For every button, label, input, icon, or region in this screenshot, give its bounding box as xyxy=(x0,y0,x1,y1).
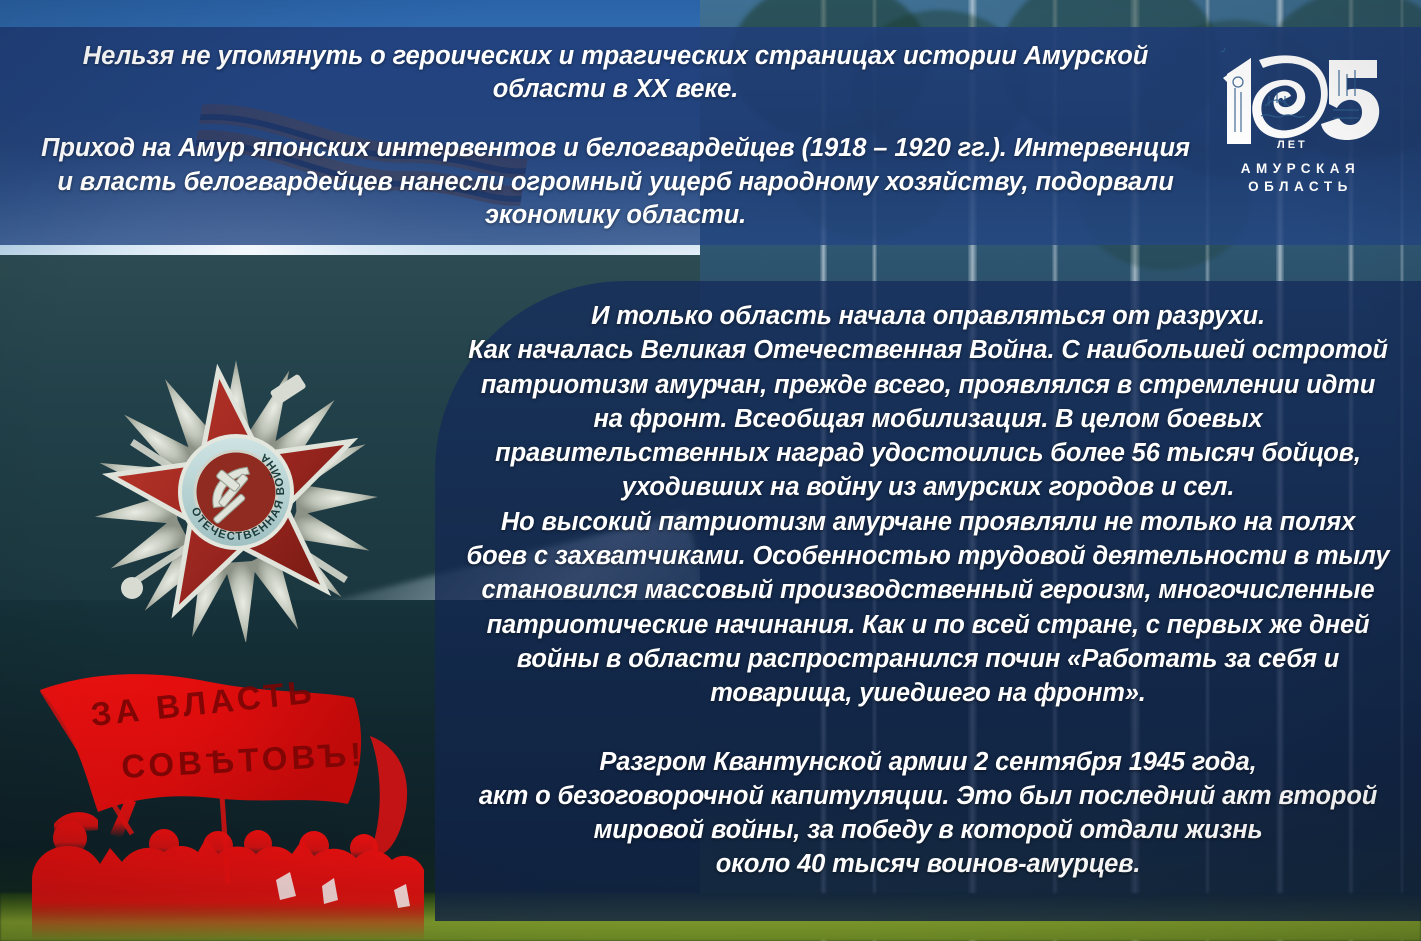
main-block-1: И только область начала оправляться от р… xyxy=(457,299,1399,333)
main-b2-line-3: на фронт. Всеобщая мобилизация. В целом … xyxy=(457,402,1399,436)
main-b2-line-1: Как началась Великая Отечественная Война… xyxy=(457,333,1399,367)
main-block-2: Как началась Великая Отечественная Война… xyxy=(457,333,1399,710)
logo-region-name: АМУРСКАЯ ОБЛАСТЬ xyxy=(1241,160,1361,196)
main-b2-line-10: войны в области распространился почин «Р… xyxy=(457,642,1399,676)
logo-region-line-1: АМУРСКАЯ xyxy=(1241,160,1361,178)
main-b2-line-6: Но высокий патриотизм амурчане проявляли… xyxy=(457,505,1399,539)
main-b2-line-4: правительственных наград удостоились бол… xyxy=(457,436,1399,470)
main-b3-line-2: акт о безоговорочной капитуляции. Это бы… xyxy=(457,779,1399,813)
main-text-panel: И только область начала оправляться от р… xyxy=(435,281,1421,921)
logo-region-line-2: ОБЛАСТЬ xyxy=(1241,178,1361,196)
top-paragraph-2: Приход на Амур японских интервентов и бе… xyxy=(40,132,1191,231)
top-paragraph-1: Нельзя не упомянуть о героических и траг… xyxy=(40,40,1191,106)
red-flag-revolution-scene: ЗА ВЛАСТЬ СОВѢТОВЪ! xyxy=(14,648,444,941)
main-b2-line-9: патриотические начинания. Как и по всей … xyxy=(457,608,1399,642)
amur-region-165-logo[interactable]: ЛЕТ АМУРСКАЯ ОБЛАСТЬ xyxy=(1208,48,1393,196)
top-p1-line-1: Нельзя не упомянуть о героических и траг… xyxy=(83,42,896,70)
main-b2-line-5: уходивших на войну из амурских городов и… xyxy=(457,470,1399,504)
main-b1-line-1: И только область начала оправляться от р… xyxy=(457,299,1399,333)
logo-years-word: ЛЕТ xyxy=(1277,139,1308,151)
165-years-icon: ЛЕТ xyxy=(1221,48,1381,154)
main-b3-line-1: Разгром Квантунской армии 2 сентября 194… xyxy=(457,745,1399,779)
top-p2-line-1: Приход на Амур японских интервентов и бе… xyxy=(41,134,1007,162)
slide-root: ОТЕЧЕСТВЕННАЯ ВОЙНА xyxy=(0,0,1421,941)
main-b2-line-2: патриотизм амурчан, прежде всего, проявл… xyxy=(457,368,1399,402)
main-block-3: Разгром Квантунской армии 2 сентября 194… xyxy=(457,745,1399,882)
main-b2-line-8: становился массовый производственный гер… xyxy=(457,573,1399,607)
main-b3-line-4: около 40 тысяч воинов-амурцев. xyxy=(457,847,1399,881)
order-of-the-patriotic-war-medal: ОТЕЧЕСТВЕННАЯ ВОЙНА xyxy=(86,352,386,642)
main-b2-line-7: боев с захватчиками. Особенностью трудов… xyxy=(457,539,1399,573)
main-b2-line-11: товарища, ушедшего на фронт». xyxy=(457,676,1399,710)
main-b3-line-3: мировой войны, за победу в которой отдал… xyxy=(457,813,1399,847)
